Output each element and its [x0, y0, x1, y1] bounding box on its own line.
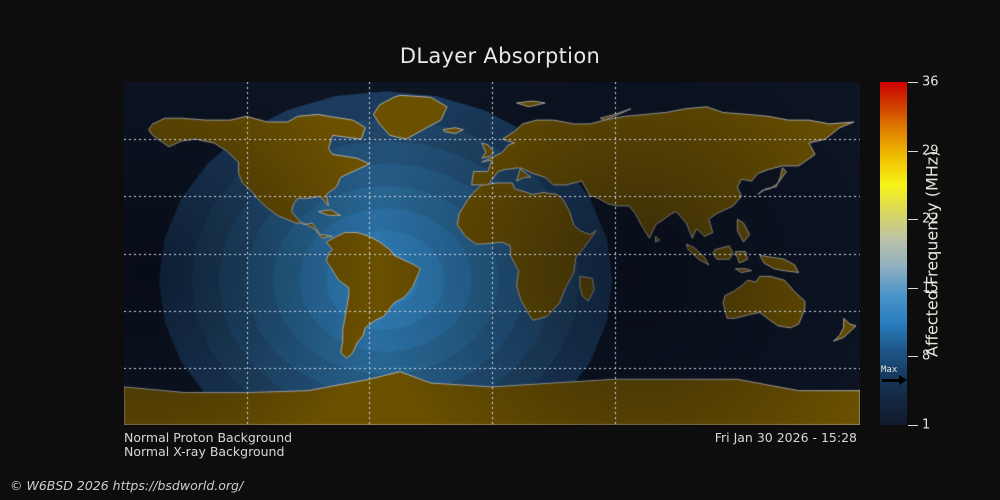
colorbar-tick [908, 82, 918, 83]
max-arrow-head [899, 375, 907, 385]
colorbar-tick [908, 219, 918, 220]
dlayer-absorption-figure: DLayer Absorption 1815222936 Max Affecte… [0, 0, 1000, 500]
xray-status: Normal X-ray Background [124, 444, 284, 459]
colorbar-tick [908, 151, 918, 152]
colorbar-tick [908, 288, 918, 289]
colorbar-tick [908, 425, 918, 426]
max-marker-label: Max [881, 365, 897, 375]
timestamp: Fri Jan 30 2026 - 15:28 [715, 430, 857, 445]
copyright-notice: © W6BSD 2026 https://bsdworld.org/ [10, 478, 243, 493]
colorbar-axis-label: Affected Frequency (MHz) [921, 82, 943, 425]
colorbar-max-marker: Max [880, 366, 908, 386]
world-map-plot[interactable] [124, 82, 860, 425]
proton-status: Normal Proton Background [124, 430, 292, 445]
page-title: DLayer Absorption [0, 44, 1000, 68]
map-canvas [124, 82, 860, 425]
colorbar-tick [908, 356, 918, 357]
